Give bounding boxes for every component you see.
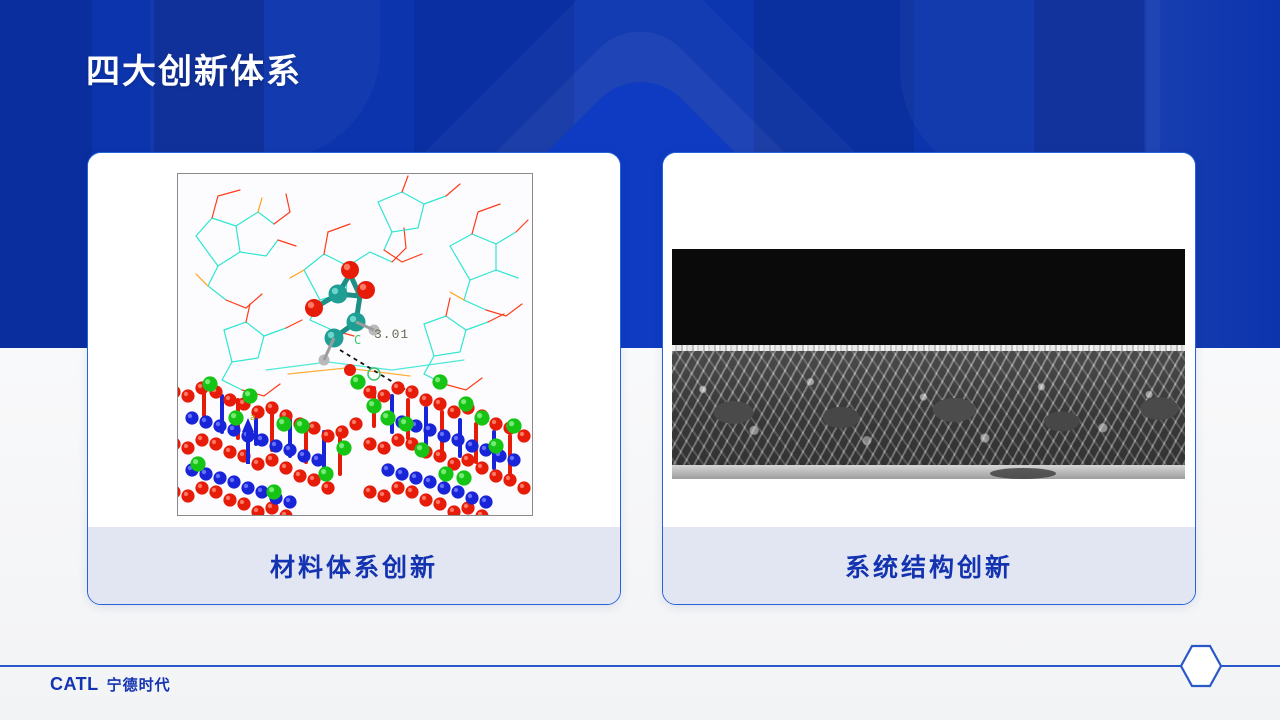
card-material-innovation[interactable]: C <box>87 152 621 605</box>
card-caption-text: 系统结构创新 <box>845 548 1013 584</box>
logo-latin-text: CATL <box>50 674 99 695</box>
card-caption-bar: 材料体系创新 <box>88 527 620 604</box>
hexagon-icon <box>1178 643 1224 689</box>
atom-label: C <box>354 333 361 347</box>
sem-void-region <box>672 249 1185 354</box>
card-system-structure-innovation[interactable]: 系统结构创新 <box>662 152 1196 605</box>
page-title: 四大创新体系 <box>86 44 302 93</box>
logo-chinese-text: 宁德时代 <box>107 674 171 695</box>
card-media-area: C <box>88 153 620 527</box>
distance-label: 3.01 <box>374 327 409 342</box>
molecular-structure-figure: C <box>177 173 533 516</box>
sem-substrate-feature <box>990 468 1056 479</box>
card-caption-text: 材料体系创新 <box>270 548 438 584</box>
svg-text:a: a <box>250 413 255 423</box>
footer-divider <box>0 665 1280 667</box>
card-caption-bar: 系统结构创新 <box>663 527 1195 604</box>
card-media-area <box>663 153 1195 527</box>
sem-porous-layer <box>672 351 1185 479</box>
catl-logo: CATL 宁德时代 <box>50 674 171 695</box>
slide-root: 四大创新体系 <box>0 0 1280 720</box>
sem-substrate <box>672 465 1185 479</box>
molecular-structure-svg: C <box>178 174 532 515</box>
sem-micrograph-figure <box>672 249 1185 479</box>
